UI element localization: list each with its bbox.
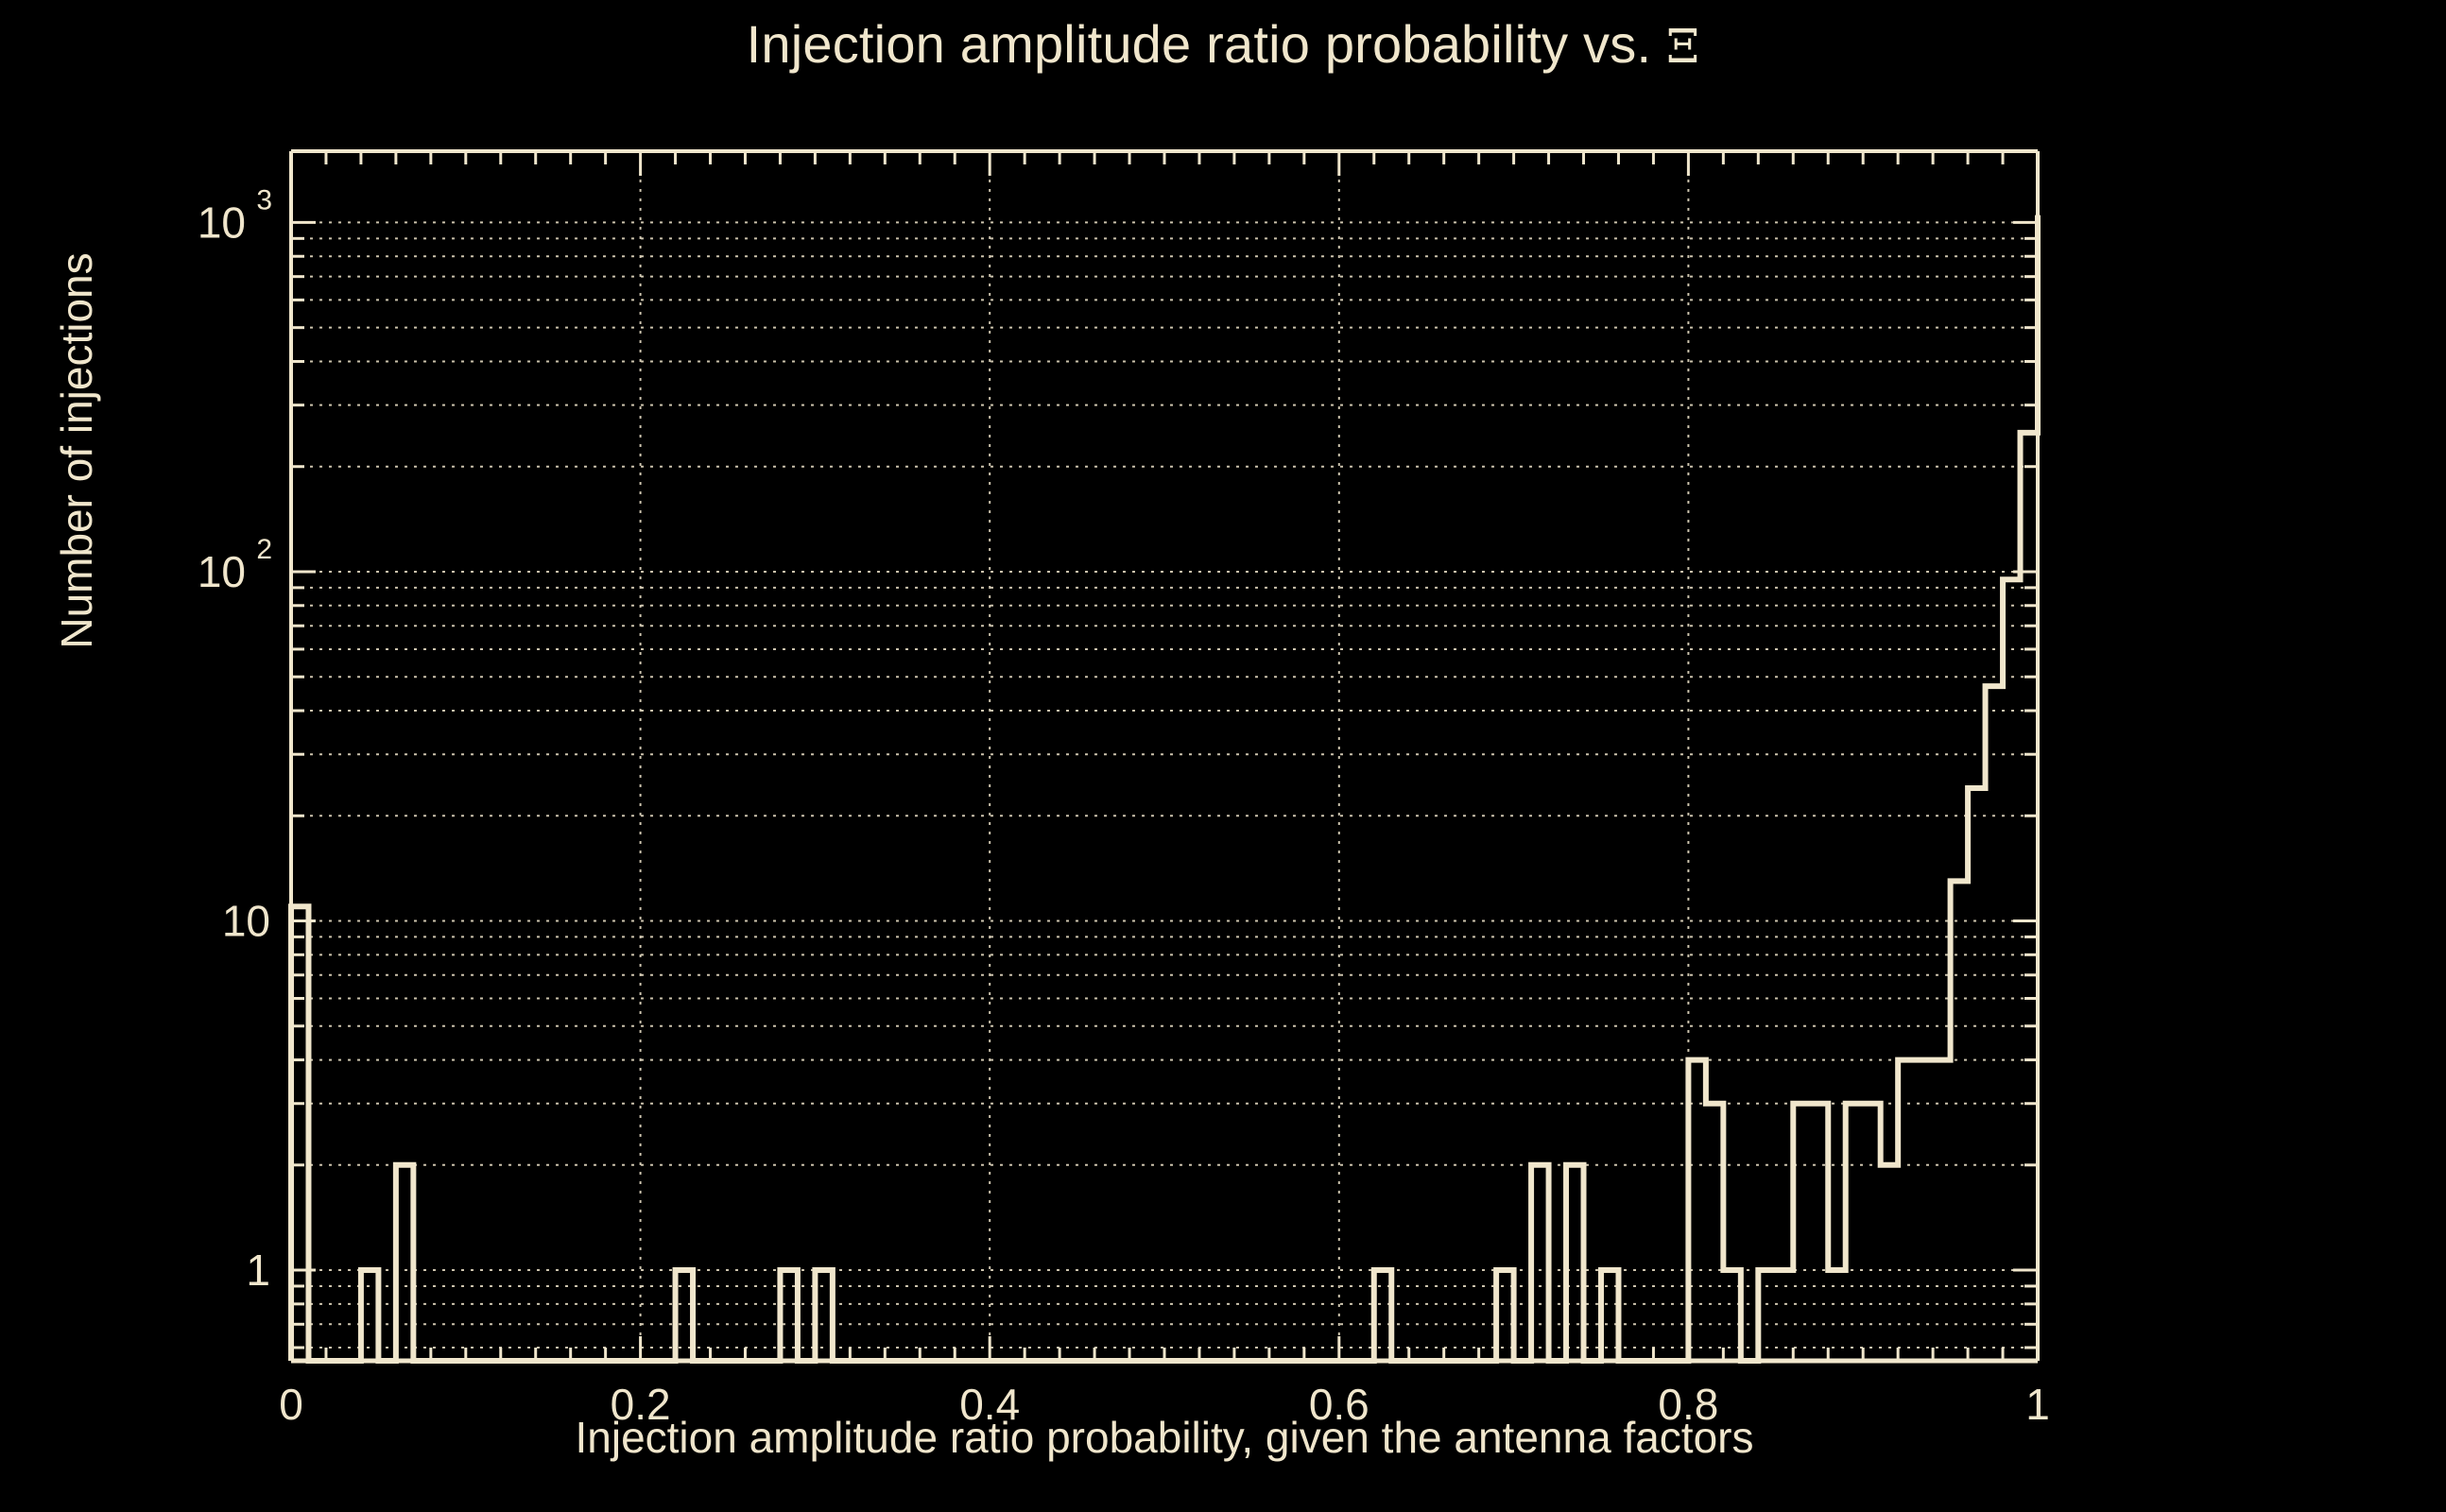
x-axis-label: Injection amplitude ratio probability, g…	[291, 1412, 2038, 1463]
y-tick-label: 10	[198, 198, 246, 247]
y-tick-label: 10	[198, 547, 246, 596]
axis-minor-ticks	[291, 151, 2038, 1361]
gridlines	[291, 151, 2038, 1361]
histogram-plot: 00.20.40.60.81 110102103	[0, 0, 2446, 1512]
plot-frame	[291, 151, 2038, 1361]
y-tick-exponent: 3	[256, 184, 272, 215]
histogram-outline	[291, 215, 2038, 1361]
chart-canvas: Injection amplitude ratio probability vs…	[0, 0, 2446, 1512]
y-tick-exponent: 2	[256, 534, 272, 565]
y-tick-label: 1	[246, 1246, 270, 1295]
y-tick-label: 10	[222, 897, 270, 946]
y-tick-labels: 110102103	[198, 184, 272, 1295]
